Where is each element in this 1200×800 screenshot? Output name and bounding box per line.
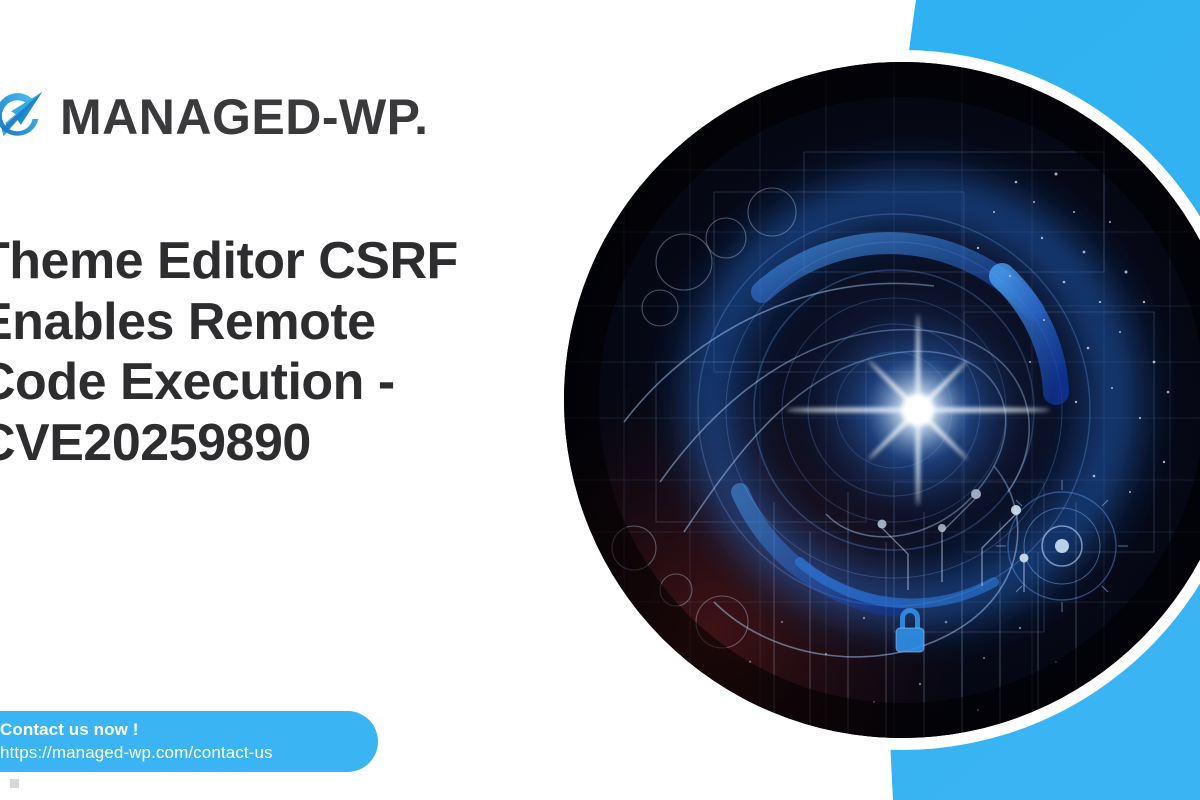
rocket-swoosh-icon <box>0 86 50 148</box>
page-title: Theme Editor CSRF Enables Remote Code Ex… <box>0 231 538 474</box>
brand-name: MANAGED-WP. <box>60 92 428 142</box>
contact-badge[interactable]: Contact us now ! https://managed-wp.com/… <box>0 711 378 772</box>
brand-logo: MANAGED-WP. <box>0 86 428 148</box>
corner-mark <box>10 779 19 788</box>
contact-badge-url[interactable]: https://managed-wp.com/contact-us <box>0 742 360 765</box>
social-card: MANAGED-WP. Theme Editor CSRF Enables Re… <box>0 0 1200 800</box>
contact-badge-title: Contact us now ! <box>0 719 360 742</box>
